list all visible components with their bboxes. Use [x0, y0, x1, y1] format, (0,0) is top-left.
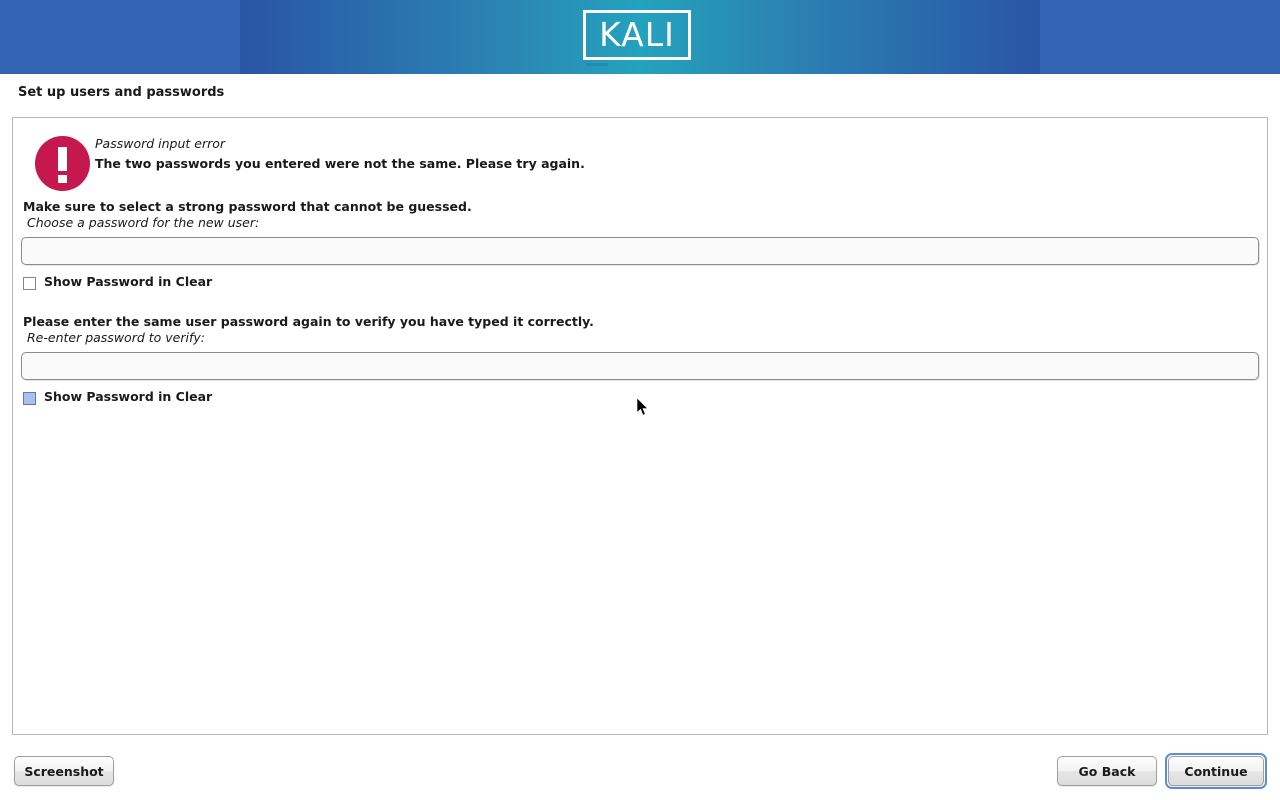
go-back-button[interactable]: Go Back [1057, 756, 1157, 786]
error-message: The two passwords you entered were not t… [95, 156, 585, 171]
password-field-label: Choose a password for the new user: [27, 215, 259, 230]
page-title: Set up users and passwords [18, 85, 224, 100]
verify-password-input[interactable] [21, 352, 1259, 380]
kali-logo-frame-gap [586, 63, 608, 66]
kali-logo: KALI [583, 10, 697, 66]
verify-hint: Please enter the same user password agai… [23, 314, 594, 329]
show-password-checkbox-label-1: Show Password in Clear [44, 274, 212, 289]
screenshot-button[interactable]: Screenshot [14, 756, 114, 786]
show-password-checkbox-2[interactable] [23, 392, 36, 405]
kali-logo-text: KALI [583, 10, 691, 60]
exclamation-dot [58, 175, 67, 183]
error-exclamation-icon [35, 136, 90, 191]
verify-field-label: Re-enter password to verify: [27, 330, 205, 345]
kali-banner: KALI [0, 0, 1280, 74]
error-block: Password input error The two passwords y… [23, 127, 1253, 197]
show-password-checkbox-1[interactable] [23, 277, 36, 290]
error-title: Password input error [95, 136, 225, 151]
exclamation-bar [58, 147, 67, 171]
password-input[interactable] [21, 237, 1259, 265]
continue-button[interactable]: Continue [1168, 756, 1264, 786]
password-hint: Make sure to select a strong password th… [23, 199, 472, 214]
installer-content-panel: Password input error The two passwords y… [12, 117, 1268, 735]
show-password-checkbox-label-2: Show Password in Clear [44, 389, 212, 404]
